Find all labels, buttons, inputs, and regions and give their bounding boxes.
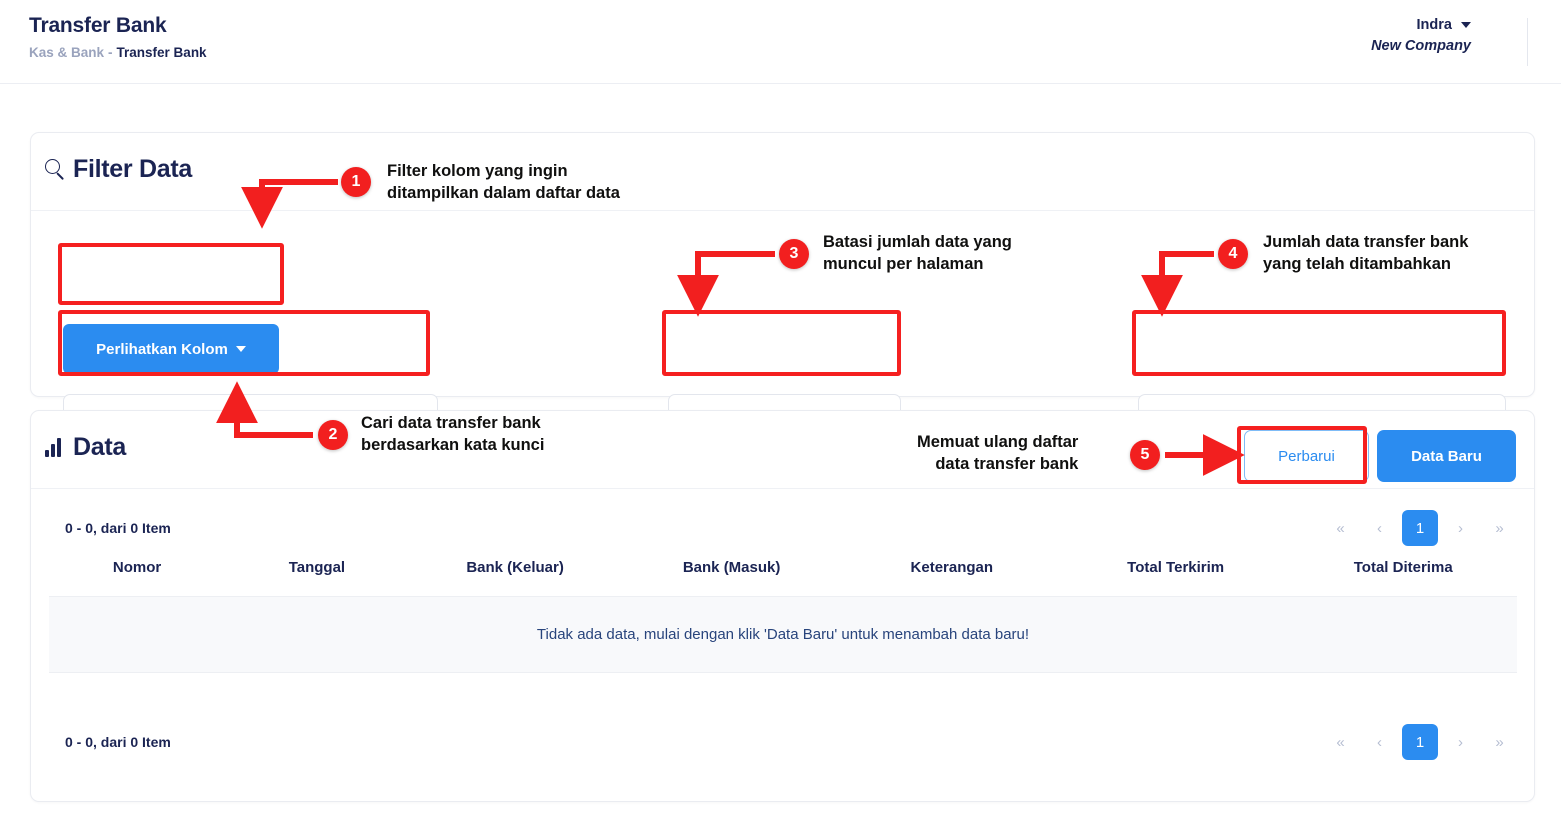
transfer-bank-table: Nomor Tanggal Bank (Keluar) Bank (Masuk)… <box>49 551 1517 673</box>
column-header-bank-masuk[interactable]: Bank (Masuk) <box>622 551 842 597</box>
data-card: Data Perbarui Data Baru 0 - 0, dari 0 It… <box>30 410 1535 802</box>
column-header-bank-keluar[interactable]: Bank (Keluar) <box>409 551 622 597</box>
column-header-total-diterima[interactable]: Total Diterima <box>1289 551 1517 597</box>
empty-state-row: Tidak ada data, mulai dengan klik 'Data … <box>49 597 1517 673</box>
new-data-button[interactable]: Data Baru <box>1377 430 1516 482</box>
filter-card-body: Perlihatkan Kolom 25 item 0 <box>31 211 1534 397</box>
pagination-prev-bottom[interactable]: ‹ <box>1363 726 1396 759</box>
refresh-button[interactable]: Perbarui <box>1244 430 1369 482</box>
user-menu[interactable]: Indra New Company <box>1371 16 1471 56</box>
search-icon <box>45 159 67 181</box>
data-table-wrapper: 0 - 0, dari 0 Item « ‹ 1 › » Nomor Tangg… <box>31 489 1534 801</box>
pagination-bottom: « ‹ 1 › » <box>1324 724 1516 760</box>
data-card-actions: Perbarui Data Baru <box>1244 430 1516 482</box>
caret-down-icon <box>236 346 246 352</box>
user-name-label: Indra <box>1417 17 1452 33</box>
item-count-bottom: 0 - 0, dari 0 Item <box>65 734 171 750</box>
pagination-row-top: 0 - 0, dari 0 Item « ‹ 1 › » <box>31 505 1534 551</box>
column-header-keterangan[interactable]: Keterangan <box>842 551 1062 597</box>
pagination-prev[interactable]: ‹ <box>1363 512 1396 545</box>
top-header-bar: Transfer Bank Kas & Bank-Transfer Bank I… <box>0 0 1561 84</box>
pagination-last[interactable]: » <box>1483 512 1516 545</box>
bar-chart-icon <box>45 437 67 457</box>
breadcrumb: Kas & Bank-Transfer Bank <box>29 45 207 60</box>
pagination-row-bottom: 0 - 0, dari 0 Item « ‹ 1 › » <box>31 719 1534 765</box>
data-card-header: Data Perbarui Data Baru <box>31 411 1534 489</box>
pagination-last-bottom[interactable]: » <box>1483 726 1516 759</box>
filter-card-title: Filter Data <box>73 155 192 184</box>
item-count-top: 0 - 0, dari 0 Item <box>65 520 171 536</box>
pagination-next-bottom[interactable]: › <box>1444 726 1477 759</box>
caret-down-icon <box>1461 22 1471 28</box>
company-name: New Company <box>1371 36 1471 56</box>
column-header-nomor[interactable]: Nomor <box>49 551 225 597</box>
pagination-top: « ‹ 1 › » <box>1324 510 1516 546</box>
filter-card-header: Filter Data <box>31 133 1534 211</box>
pagination-next[interactable]: › <box>1444 512 1477 545</box>
header-divider <box>1527 18 1528 66</box>
pagination-first-bottom[interactable]: « <box>1324 726 1357 759</box>
breadcrumb-current: Transfer Bank <box>117 45 207 60</box>
page-title: Transfer Bank <box>29 14 166 38</box>
pagination-page-1-bottom[interactable]: 1 <box>1402 724 1438 760</box>
user-name[interactable]: Indra <box>1371 16 1471 34</box>
data-card-title: Data <box>73 433 126 462</box>
pagination-first[interactable]: « <box>1324 512 1357 545</box>
table-header-row: Nomor Tanggal Bank (Keluar) Bank (Masuk)… <box>49 551 1517 597</box>
empty-state-message: Tidak ada data, mulai dengan klik 'Data … <box>49 597 1517 673</box>
show-columns-button[interactable]: Perlihatkan Kolom <box>63 324 279 374</box>
filter-data-card: Filter Data Perlihatkan Kolom 25 item 0 <box>30 132 1535 397</box>
show-columns-label: Perlihatkan Kolom <box>96 341 228 358</box>
pagination-page-1[interactable]: 1 <box>1402 510 1438 546</box>
breadcrumb-separator: - <box>104 45 117 60</box>
breadcrumb-parent[interactable]: Kas & Bank <box>29 45 104 60</box>
column-header-tanggal[interactable]: Tanggal <box>225 551 409 597</box>
column-header-total-terkirim[interactable]: Total Terkirim <box>1062 551 1290 597</box>
